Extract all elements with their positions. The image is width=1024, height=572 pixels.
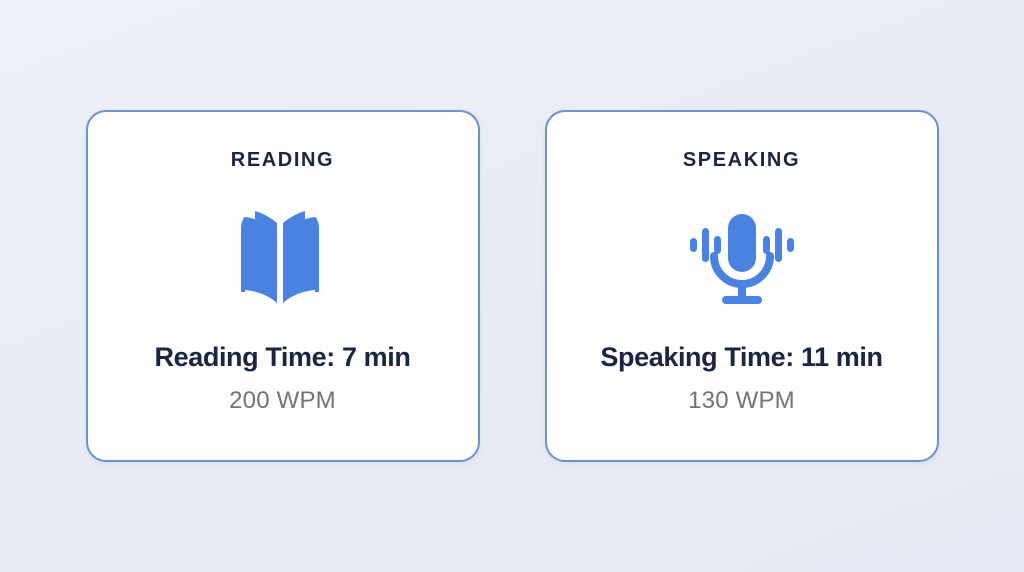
speaking-card[interactable]: SPEAKING (545, 110, 939, 462)
speaking-card-title: SPEAKING (683, 150, 800, 170)
reading-card-title: READING (231, 150, 334, 170)
reading-time-headline: Reading Time: 7 min (155, 344, 411, 371)
speaking-wpm-subtext: 130 WPM (688, 389, 795, 413)
estimate-panel: READING Reading Time: 7 min (0, 0, 1024, 572)
reading-card[interactable]: READING Reading Time: 7 min (86, 110, 480, 462)
microphone-icon (686, 198, 798, 318)
speaking-time-headline: Speaking Time: 11 min (600, 344, 882, 371)
open-book-icon (227, 198, 339, 318)
reading-wpm-subtext: 200 WPM (229, 389, 336, 413)
metric-cards-row: READING Reading Time: 7 min (0, 110, 1024, 462)
